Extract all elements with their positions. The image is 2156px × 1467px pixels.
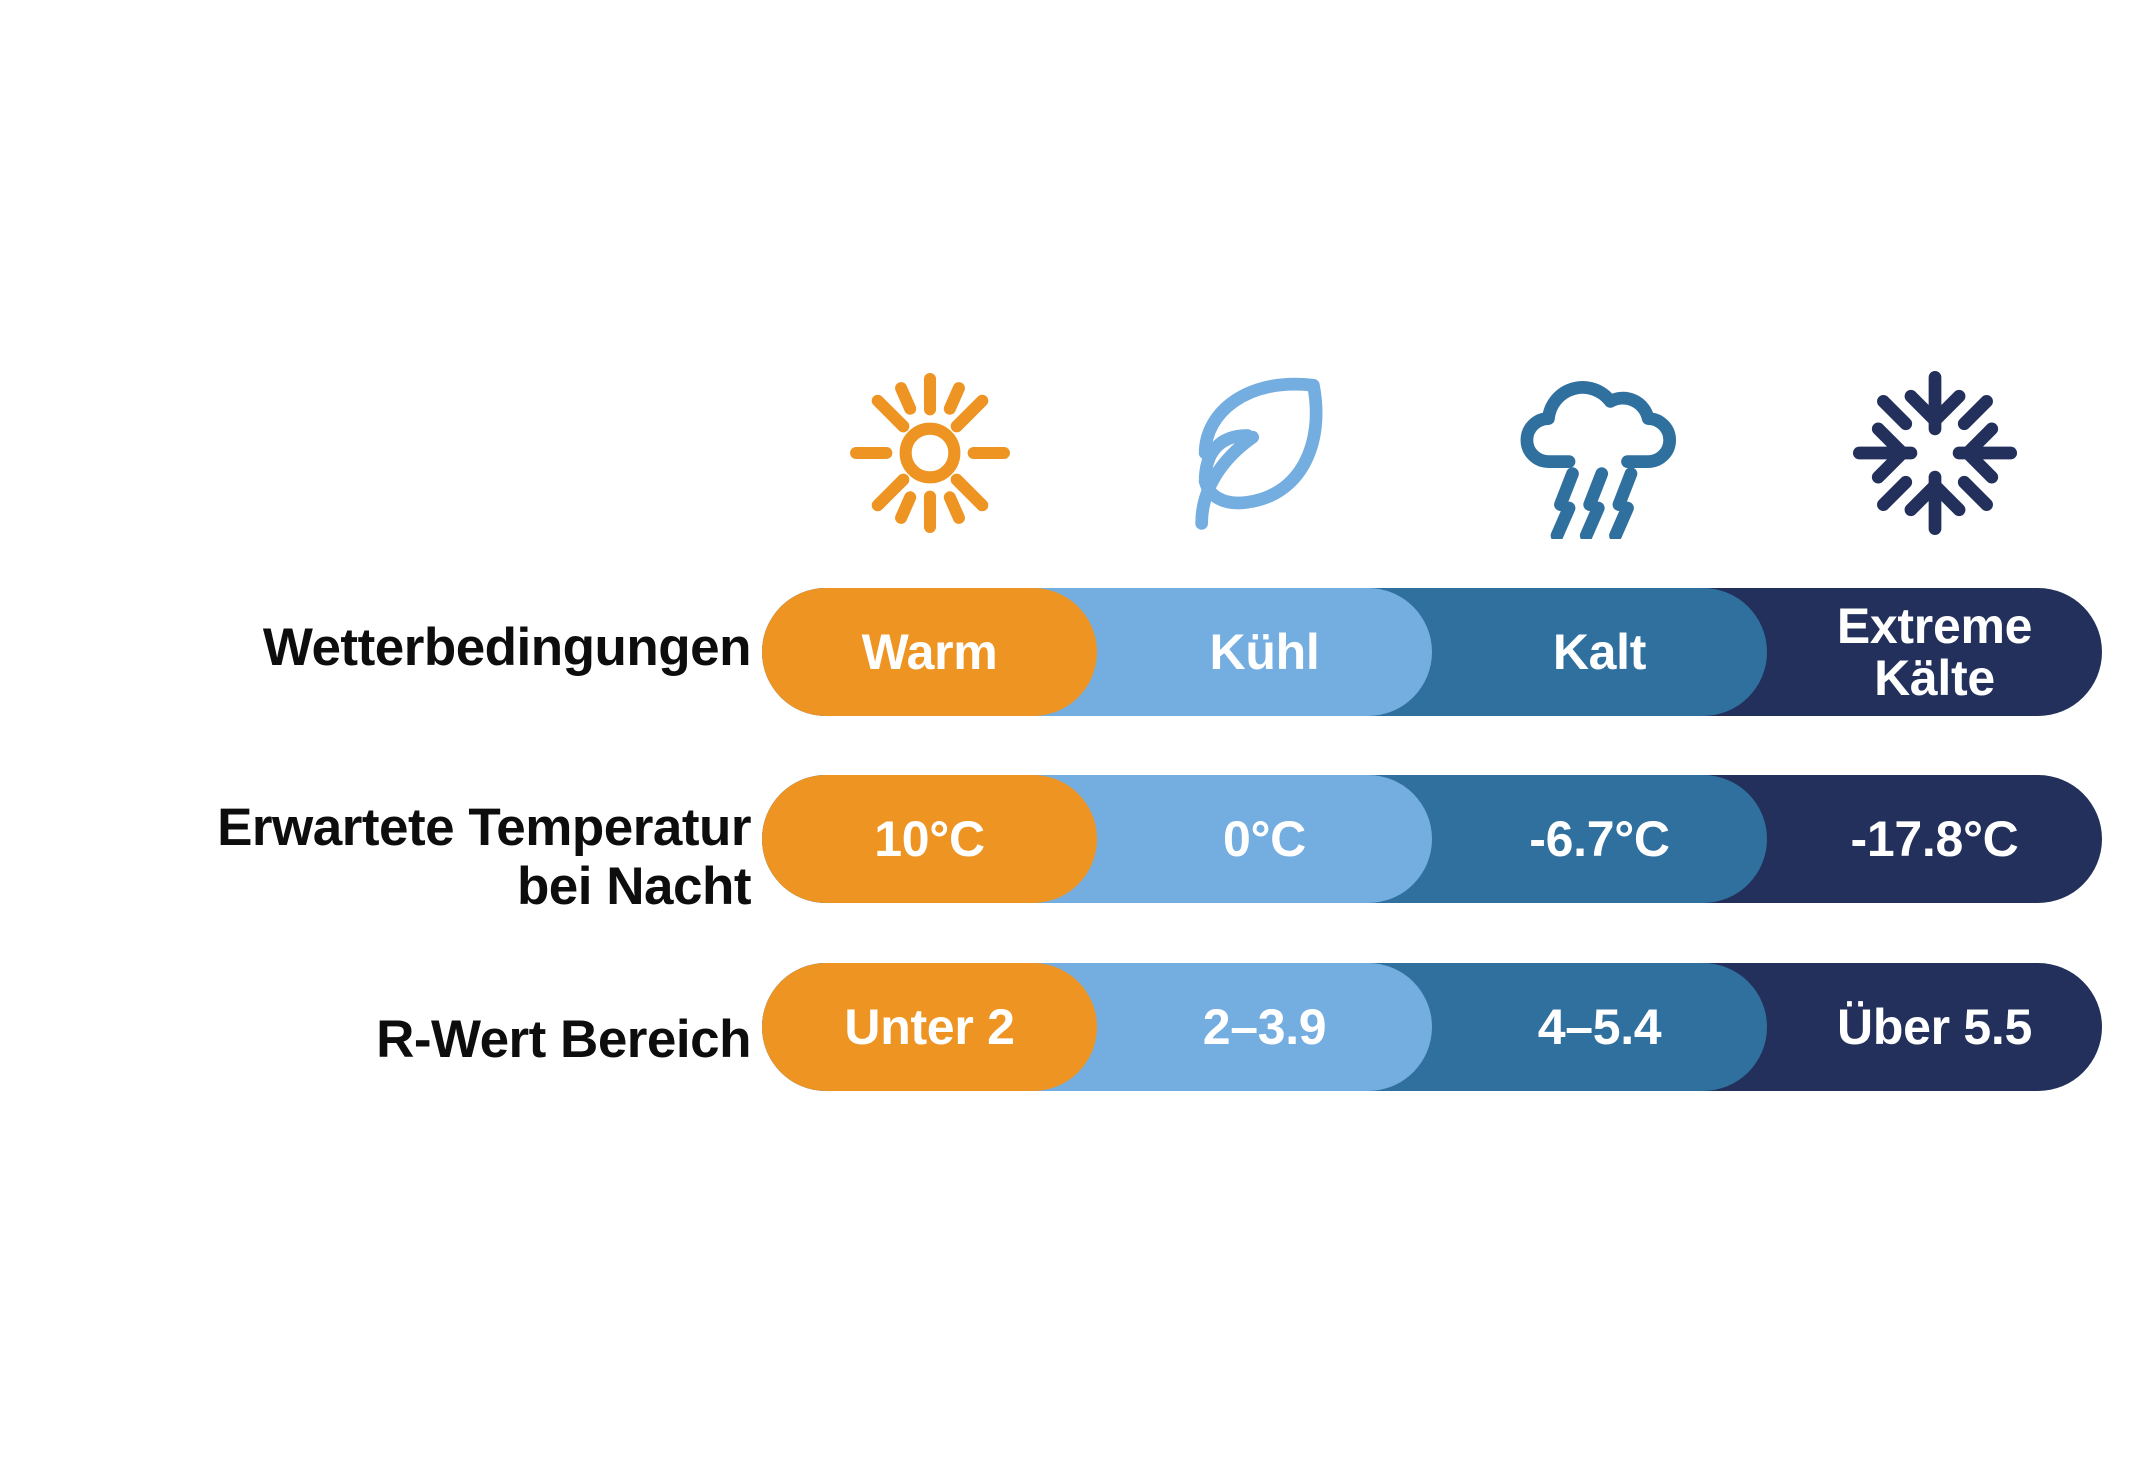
snowflake-icon [1767, 338, 2102, 568]
rain-cloud-icon [1432, 338, 1767, 568]
row-label-expected-night-temperature: Erwartete Temperatur bei Nacht [31, 798, 751, 917]
row-label-weather-conditions: Wetterbedingungen [31, 618, 751, 677]
weather-icon-row [762, 338, 2102, 568]
segment-warm[interactable]: Unter 2 [762, 963, 1097, 1091]
sun-icon [762, 338, 1097, 568]
leaf-icon [1097, 338, 1432, 568]
segment-label: 10°C [762, 813, 1097, 865]
bar-weather-conditions: Extreme Kälte Kalt Kühl Warm [762, 588, 2102, 716]
segment-label: Unter 2 [762, 1001, 1097, 1053]
bar-r-value-range: Über 5.5 4–5.4 2–3.9 Unter 2 [762, 963, 2102, 1091]
row-label-r-value-range: R-Wert Bereich [31, 1010, 751, 1069]
infographic-canvas: Wetterbedingungen Extreme Kälte Kalt Küh… [0, 0, 2156, 1467]
bar-expected-night-temperature: -17.8°C -6.7°C 0°C 10°C [762, 775, 2102, 903]
segment-warm[interactable]: Warm [762, 588, 1097, 716]
segment-warm[interactable]: 10°C [762, 775, 1097, 903]
segment-label: Warm [762, 626, 1097, 678]
